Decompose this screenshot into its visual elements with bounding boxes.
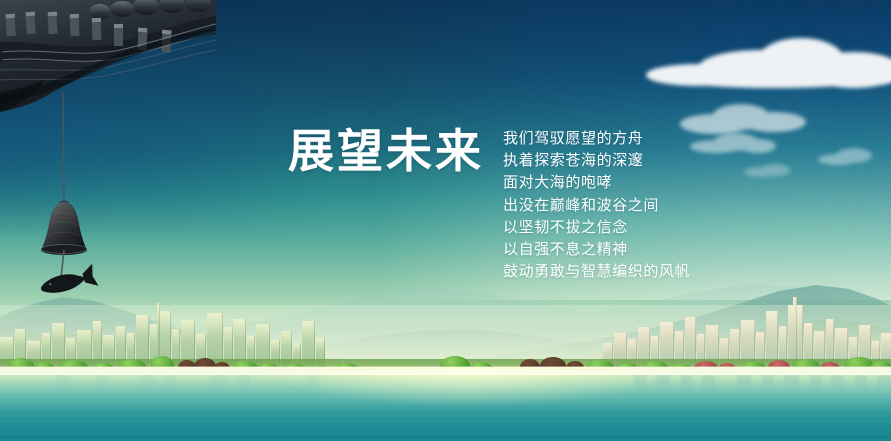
poem-line: 面对大海的咆哮 <box>503 172 713 194</box>
cloud-wisp <box>744 164 794 178</box>
banner-image: 展望未来 我们驾驭愿望的方舟 执着探索苍海的深邃 面对大海的咆哮 出没在巅峰和波… <box>0 0 891 441</box>
poem-line: 我们驾驭愿望的方舟 <box>503 128 713 150</box>
city-reflection-left <box>0 375 330 399</box>
cloud-small-right <box>818 148 880 166</box>
city-reflection-right <box>599 375 891 399</box>
poem-line: 鼓动勇敢与智慧编织的风帆 <box>503 261 713 283</box>
bell-icon <box>41 202 87 250</box>
page-title: 展望未来 <box>288 126 484 178</box>
fish-clapper-icon <box>38 264 98 302</box>
poem-line: 出没在巅峰和波谷之间 <box>503 195 713 217</box>
wind-chime <box>28 92 108 302</box>
poem-line: 以自强不息之精神 <box>503 239 713 261</box>
poem-block: 我们驾驭愿望的方舟 执着探索苍海的深邃 面对大海的咆哮 出没在巅峰和波谷之间 以… <box>503 128 713 283</box>
water-horizon-line <box>0 366 891 375</box>
chime-cord <box>63 92 64 202</box>
poem-line: 执着探索苍海的深邃 <box>503 150 713 172</box>
cloud-large <box>646 36 886 92</box>
poem-line: 以坚韧不拔之信念 <box>503 217 713 239</box>
